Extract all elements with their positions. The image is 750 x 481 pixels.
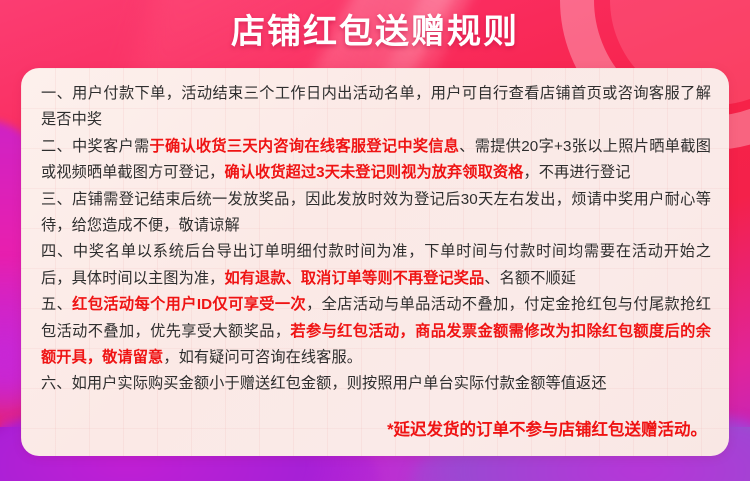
rule-text-highlight: 于确认收货三天内咨询在线客服登记中奖信息 [149,138,459,155]
rules-card: 一、用户付款下单，活动结束三个工作日内出活动名单，用户可自行查看店铺首页或咨询客… [21,68,729,456]
rule-3: 三、店铺需登记结束后统一发放奖品，因此发放时效为登记后30天左右发出，烦请中奖用… [41,187,711,240]
promo-banner: 店铺红包送赠规则 一、用户付款下单，活动结束三个工作日内出活动名单，用户可自行查… [0,0,750,481]
rules-list: 一、用户付款下单，活动结束三个工作日内出活动名单，用户可自行查看店铺首页或咨询客… [41,81,711,398]
rule-text: 三、店铺需登记结束后统一发放奖品，因此发放时效为登记后30天左右发出，烦请中奖用… [41,191,711,234]
rule-1: 一、用户付款下单，活动结束三个工作日内出活动名单，用户可自行查看店铺首页或咨询客… [41,81,711,134]
rule-text: 五、 [41,296,72,313]
rule-text: 二、中奖客户需 [41,138,149,155]
rule-text-highlight: 确认收货超过3天未登记则视为放弃领取资格 [224,164,523,181]
rule-text: ，不再进行登记 [523,164,630,181]
rule-text-highlight: 如有退款、取消订单等则不再登记奖品 [224,270,484,287]
rule-text-highlight: 红包活动每个用户ID仅可享受一次 [72,296,306,313]
rule-text: 六、如用户实际购买金额小于赠送红包金额，则按照用户单台实际付款金额等值返还 [41,375,607,392]
rule-2: 二、中奖客户需于确认收货三天内咨询在线客服登记中奖信息、需提供20字+3张以上照… [41,134,711,187]
rule-4: 四、中奖名单以系统后台导出订单明细付款时间为准，下单时间与付款时间均需要在活动开… [41,239,711,292]
rule-text: ，如有疑问可咨询在线客服。 [163,349,362,366]
rule-5: 五、红包活动每个用户ID仅可享受一次，全店活动与单品活动不叠加，付定金抢红包与付… [41,292,711,371]
rule-text: 一、用户付款下单，活动结束三个工作日内出活动名单，用户可自行查看店铺首页或咨询客… [41,85,711,128]
banner-title: 店铺红包送赠规则 [0,8,750,56]
footnote-text: *延迟发货的订单不参与店铺红包送赠活动。 [41,418,711,442]
rule-text: 、名额不顺延 [484,270,576,287]
rule-6: 六、如用户实际购买金额小于赠送红包金额，则按照用户单台实际付款金额等值返还 [41,371,711,397]
